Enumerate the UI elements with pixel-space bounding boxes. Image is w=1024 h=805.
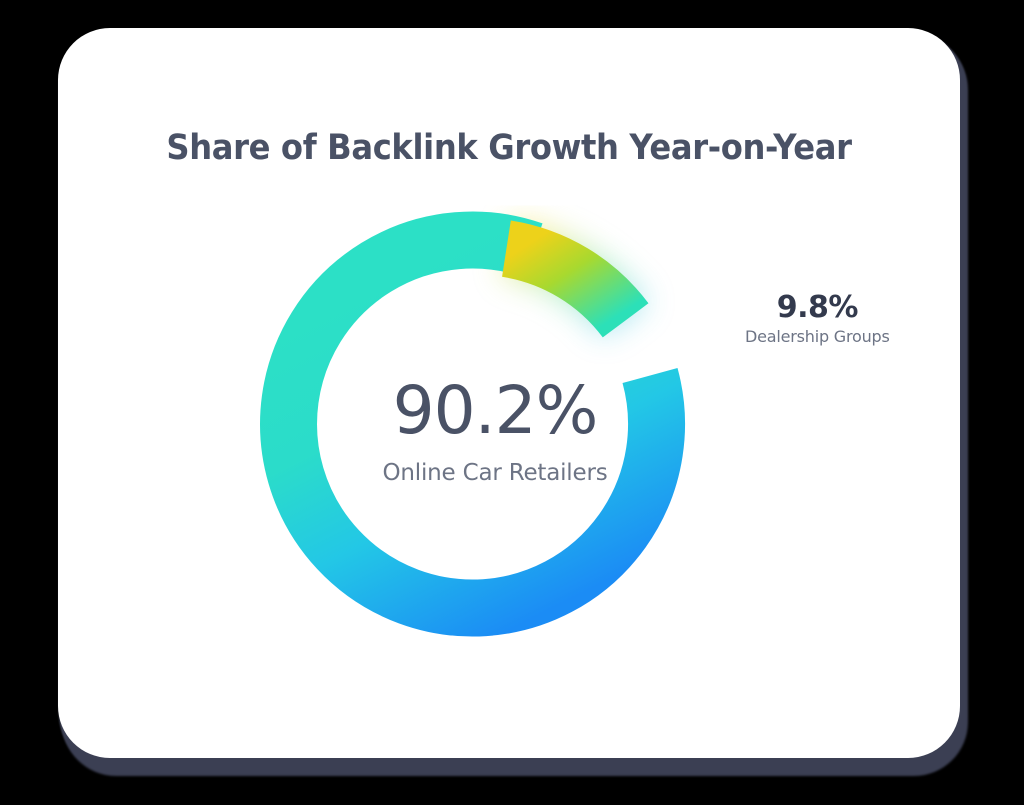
callout-dealership-groups: 9.8% Dealership Groups <box>745 292 890 346</box>
callout-label: Dealership Groups <box>745 327 890 346</box>
screenshot-stage: Share of Backlink Growth Year-on-Year <box>0 0 1024 805</box>
callout-value: 9.8% <box>745 292 890 324</box>
donut-chart-svg <box>225 162 765 702</box>
donut-chart: 90.2% Online Car Retailers <box>225 162 765 702</box>
slice-dealership-groups[interactable] <box>506 249 625 321</box>
